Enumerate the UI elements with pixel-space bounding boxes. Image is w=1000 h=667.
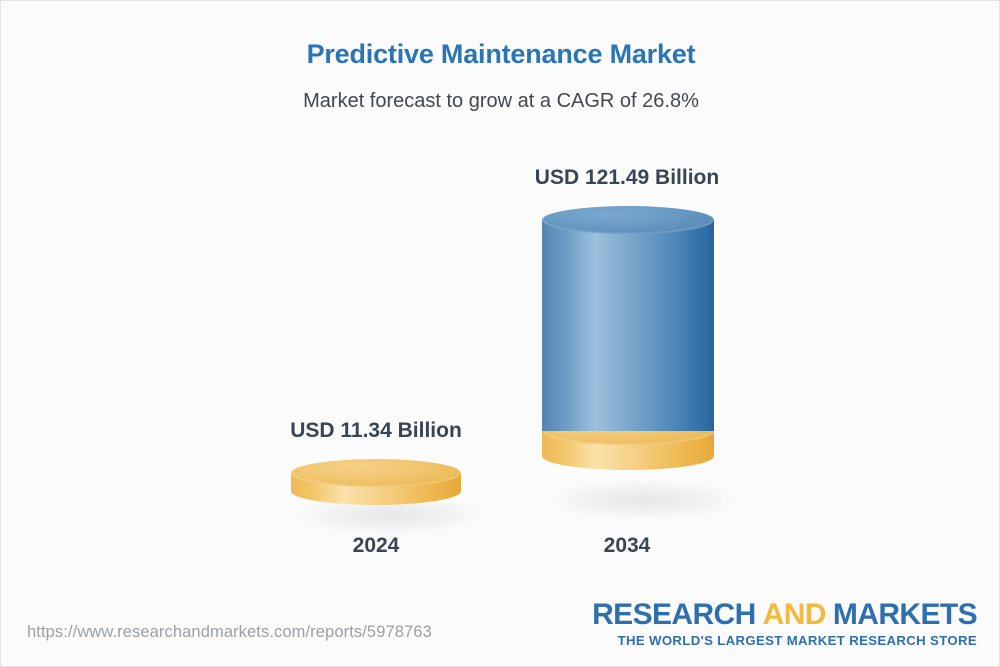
logo-word-and: AND (763, 598, 826, 631)
cylinder-top-2024 (291, 459, 461, 487)
cylinder-2034[interactable] (542, 206, 714, 506)
category-label-2024: 2024 (269, 534, 483, 558)
plot-area: USD 11.34 Billion 2024 USD 121.49 Billio… (1, 1, 1000, 601)
logo-word-research: RESEARCH (592, 598, 756, 631)
bar-group-2024[interactable]: USD 11.34 Billion 2024 (269, 151, 483, 571)
category-label-2034: 2034 (520, 534, 734, 558)
chart-canvas: Predictive Maintenance Market Market for… (0, 0, 1000, 667)
source-url[interactable]: https://www.researchandmarkets.com/repor… (27, 623, 432, 642)
cylinder-2024[interactable] (291, 459, 461, 521)
logo-wordmark: RESEARCHANDMARKETS (592, 599, 977, 631)
cylinder-body-2034 (542, 220, 714, 431)
brand-logo[interactable]: RESEARCHANDMARKETS THE WORLD'S LARGEST M… (592, 599, 977, 649)
bar-group-2034[interactable]: USD 121.49 Billion 2034 (520, 151, 734, 571)
cylinder-top-2034 (542, 206, 714, 234)
cylinder-shadow-2034 (550, 480, 738, 520)
logo-tagline: THE WORLD'S LARGEST MARKET RESEARCH STOR… (592, 633, 977, 648)
value-label-2024: USD 11.34 Billion (269, 419, 483, 443)
value-label-2034: USD 121.49 Billion (520, 166, 734, 190)
logo-word-markets: MARKETS (833, 598, 977, 631)
